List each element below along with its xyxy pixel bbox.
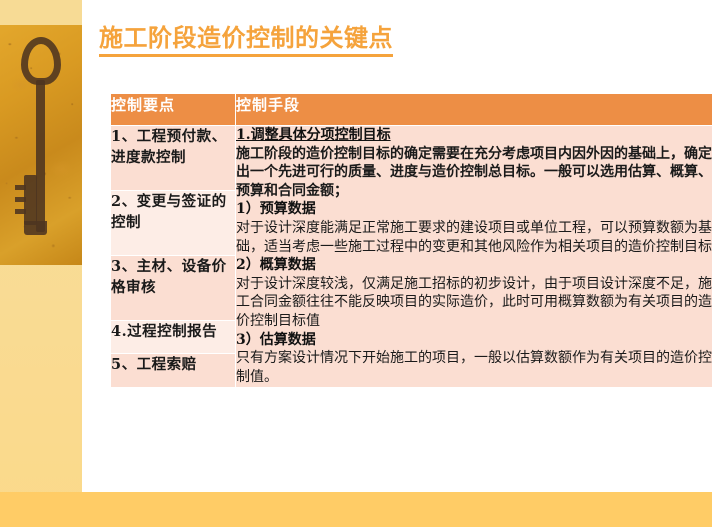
- key-foot-icon: [24, 221, 47, 235]
- control-point-2: 2、变更与签证的控制: [111, 191, 236, 256]
- measures-section-2-body: 对于设计深度较浅，仅满足施工招标的初步设计，由于项目设计深度不足，施工合同金额往…: [236, 275, 712, 331]
- control-measures-cell: 1.调整具体分项控制目标 施工阶段的造价控制目标的确定需要在充分考虑项目内因外因…: [236, 126, 712, 388]
- column-header-control-points: 控制要点: [111, 94, 236, 126]
- measures-section-3-body: 只有方案设计情况下开始施工的项目，一般以估算数额作为有关项目的造价控制值。: [236, 349, 712, 386]
- bottom-accent-bar: [0, 492, 712, 527]
- key-bow-icon: [21, 37, 61, 85]
- page-title: 施工阶段造价控制的关键点: [99, 26, 393, 57]
- control-point-4: 4.过程控制报告: [111, 321, 236, 354]
- control-measures-content: 1.调整具体分项控制目标 施工阶段的造价控制目标的确定需要在充分考虑项目内因外因…: [236, 126, 712, 387]
- measures-intro: 施工阶段的造价控制目标的确定需要在充分考虑项目内因外因的基础上，确定出一个先进可…: [236, 145, 712, 201]
- key-tooth-icon: [15, 209, 26, 214]
- measures-section-2-title: 2）概算数据: [236, 256, 712, 275]
- table-row: 1、工程预付款、进度款控制 1.调整具体分项控制目标 施工阶段的造价控制目标的确…: [111, 126, 712, 191]
- key-photo: [0, 25, 82, 265]
- control-point-5: 5、工程索赔: [111, 354, 236, 387]
- measures-section-3-title: 3）估算数据: [236, 331, 712, 350]
- control-point-3: 3、主材、设备价格审核: [111, 256, 236, 321]
- measures-section-1-body: 对于设计深度能满足正常施工要求的建设项目或单位工程，可以预算数额为基础，适当考虑…: [236, 219, 712, 256]
- measures-section-1-title: 1）预算数据: [236, 200, 712, 219]
- control-points-table: 控制要点 控制手段 1、工程预付款、进度款控制 1.调整具体分项控制目标 施工阶…: [110, 93, 712, 388]
- measures-heading: 1.调整具体分项控制目标: [236, 126, 712, 145]
- bottom-accent-bar-inner: [82, 492, 712, 527]
- table-header-row: 控制要点 控制手段: [111, 94, 712, 126]
- key-shaft-icon: [36, 80, 45, 232]
- key-tooth-icon: [15, 185, 26, 190]
- column-header-control-measures: 控制手段: [236, 94, 712, 126]
- key-tooth-icon: [15, 197, 26, 202]
- decorative-sidebar: [0, 0, 82, 527]
- control-point-1: 1、工程预付款、进度款控制: [111, 126, 236, 191]
- slide-canvas: 施工阶段造价控制的关键点 控制要点 控制手段 1、工程预付款、进度款控制 1.调…: [0, 0, 712, 527]
